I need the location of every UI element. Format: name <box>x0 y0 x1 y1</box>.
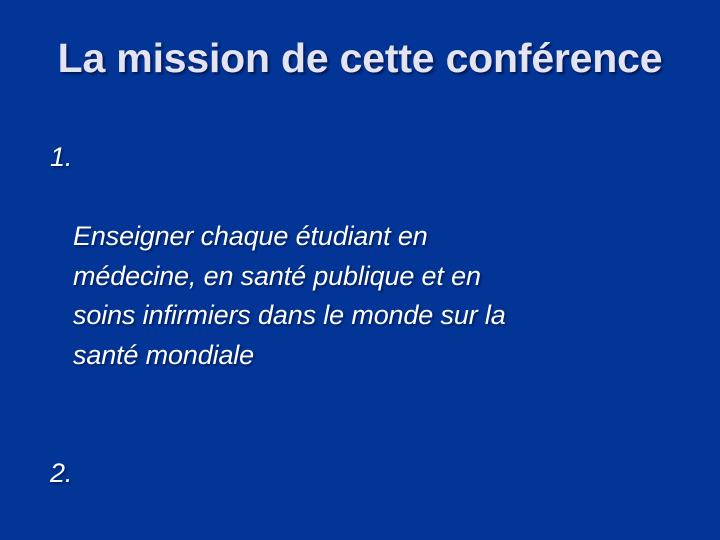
list-item-number: 1. <box>50 138 72 178</box>
slide-body-list: 1. Enseigner chaque étudiant en médecine… <box>50 138 690 540</box>
list-item-text: Enseigner chaque étudiant en médecine, e… <box>73 217 690 375</box>
presentation-slide: La mission de cette conférence 1. Enseig… <box>0 0 720 540</box>
list-item-text: Développer un réseau de la santé mondial… <box>73 533 690 540</box>
list-item: 2. Développer un réseau de la santé mond… <box>50 454 690 540</box>
slide-title: La mission de cette conférence <box>0 31 720 86</box>
list-item-number: 2. <box>50 454 72 494</box>
list-item: 1. Enseigner chaque étudiant en médecine… <box>50 138 690 415</box>
